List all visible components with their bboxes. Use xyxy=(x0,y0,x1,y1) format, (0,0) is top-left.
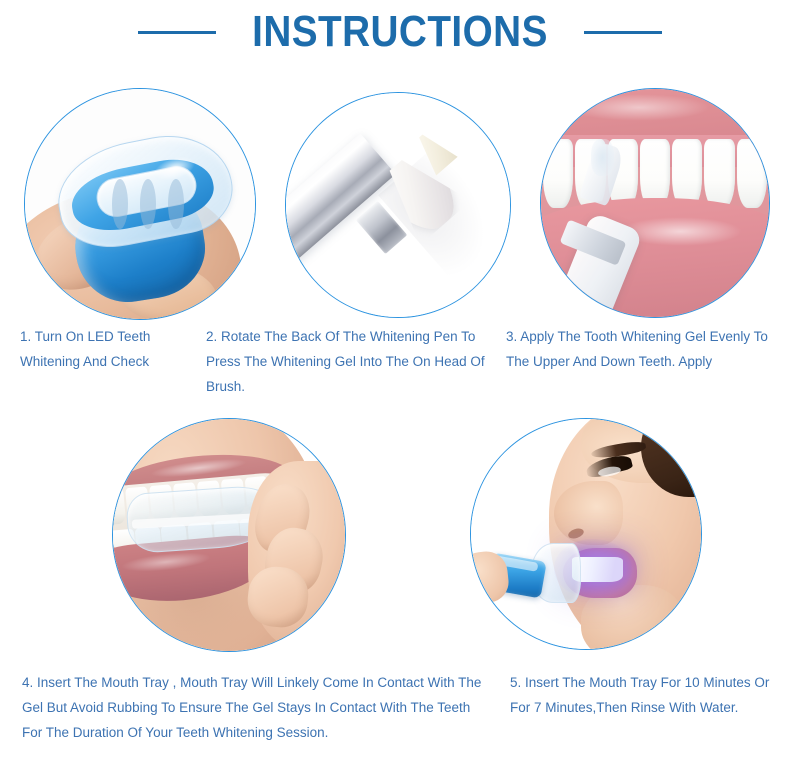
photo-pen-applying-gel-to-teeth xyxy=(541,89,769,317)
step-3-caption: 3. Apply The Tooth Whitening Gel Evenly … xyxy=(506,324,794,374)
step-2-image xyxy=(285,92,511,318)
step-4-image xyxy=(112,418,346,652)
page-title: INSTRUCTIONS xyxy=(252,10,548,54)
step-4-caption: 4. Insert The Mouth Tray , Mouth Tray Wi… xyxy=(22,670,494,745)
photo-whitening-pen-tip-closeup xyxy=(286,93,510,317)
step-1-caption: 1. Turn On LED Teeth Whitening And Check xyxy=(20,324,200,374)
step-3-image xyxy=(540,88,770,318)
instructions-page: INSTRUCTIONS 1. Turn On LED Teeth Whiten… xyxy=(0,0,800,778)
step-2-caption: 2. Rotate The Back Of The Whitening Pen … xyxy=(206,324,502,399)
step-5-caption: 5. Insert The Mouth Tray For 10 Minutes … xyxy=(510,670,782,720)
step-5-image xyxy=(470,418,702,650)
page-header: INSTRUCTIONS xyxy=(0,0,800,64)
photo-inserting-clear-mouth-tray xyxy=(113,419,345,651)
step-1-image xyxy=(24,88,256,320)
header-rule-right xyxy=(584,31,662,34)
photo-hand-holding-blue-led-whitening-device xyxy=(25,89,255,319)
photo-woman-profile-using-led-device xyxy=(471,419,701,649)
header-rule-left xyxy=(138,31,216,34)
